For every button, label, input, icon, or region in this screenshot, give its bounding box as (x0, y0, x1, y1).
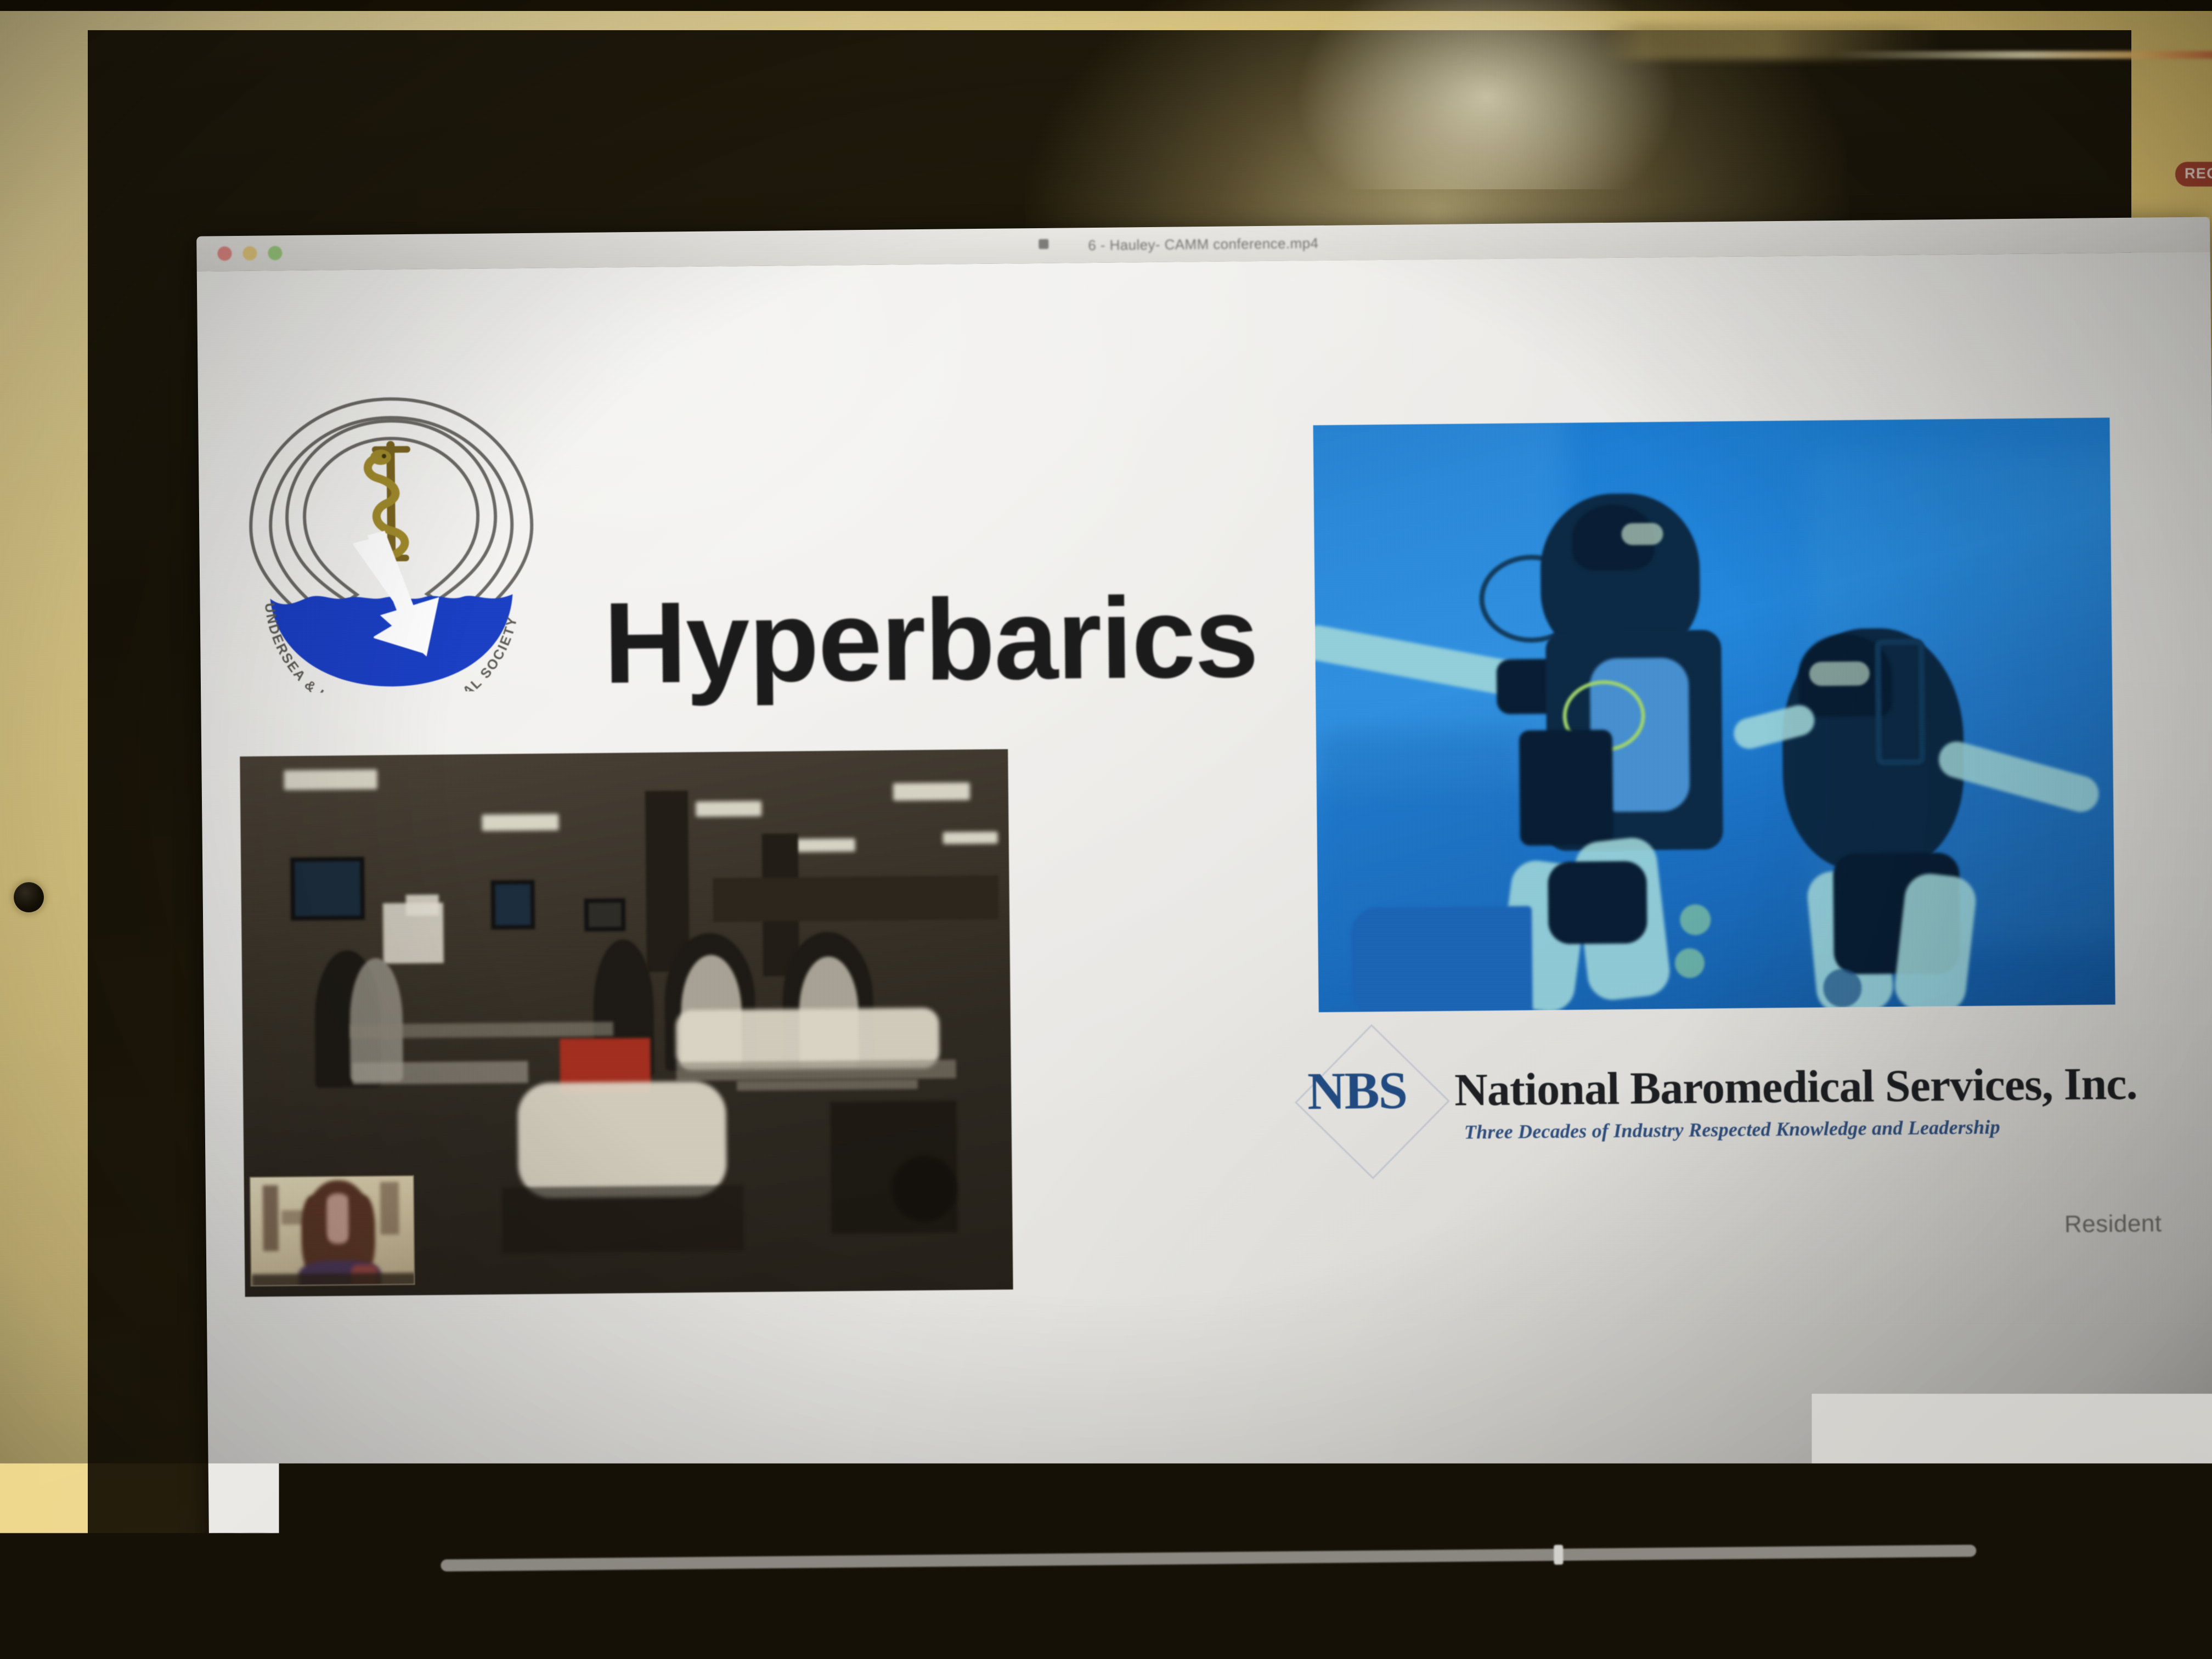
footer-label: Resident (2064, 1210, 2162, 1238)
uhms-logo: UNDERSEA & HYPERBARIC MEDICAL SOCIETY (236, 378, 546, 693)
media-player-window: 6 - Hauley- CAMM conference.mp4 (196, 217, 2212, 1602)
front-camera-lens (14, 882, 44, 912)
recording-indicator: REC (2175, 162, 2212, 187)
nbs-tagline: Three Decades of Industry Respected Know… (1464, 1115, 2000, 1143)
volume-knob[interactable] (2159, 1543, 2171, 1555)
nbs-mark: NBS (1307, 1060, 1407, 1122)
share-button[interactable] (347, 1551, 377, 1582)
fullscreen-icon[interactable] (2184, 1539, 2199, 1558)
tablet-screen: 6 - Hauley- CAMM conference.mp4 (88, 30, 2131, 1659)
hyperbaric-chamber-room-photo (240, 749, 1013, 1297)
scuba-divers-photo (1313, 417, 2115, 1012)
presentation-slide: UNDERSEA & HYPERBARIC MEDICAL SOCIETY Hy… (197, 252, 2212, 1533)
playback-scrubber[interactable] (441, 1545, 1976, 1572)
volume-slider[interactable] (2058, 1547, 2168, 1552)
playhead-handle[interactable] (1554, 1545, 1563, 1565)
page-title: Hyperbarics (603, 579, 1258, 701)
volume-control[interactable] (2036, 1539, 2199, 1559)
play-pause-button[interactable] (270, 1552, 301, 1582)
time-remaining: -1:23 (1993, 1542, 2025, 1559)
trim-button[interactable] (386, 1551, 416, 1581)
presenter-webcam-overlay[interactable] (250, 1175, 415, 1286)
fast-forward-button[interactable] (309, 1551, 339, 1582)
nbs-logo: NBS National Baromedical Services, Inc. … (1307, 1043, 2142, 1155)
rewind-button[interactable] (232, 1553, 262, 1583)
nbs-company-name: National Baromedical Services, Inc. (1454, 1057, 2137, 1117)
screen-reflection-streak (1832, 51, 2212, 59)
volume-icon[interactable] (2036, 1541, 2051, 1559)
photograph-of-tablet: 6 - Hauley- CAMM conference.mp4 (0, 0, 2212, 1659)
